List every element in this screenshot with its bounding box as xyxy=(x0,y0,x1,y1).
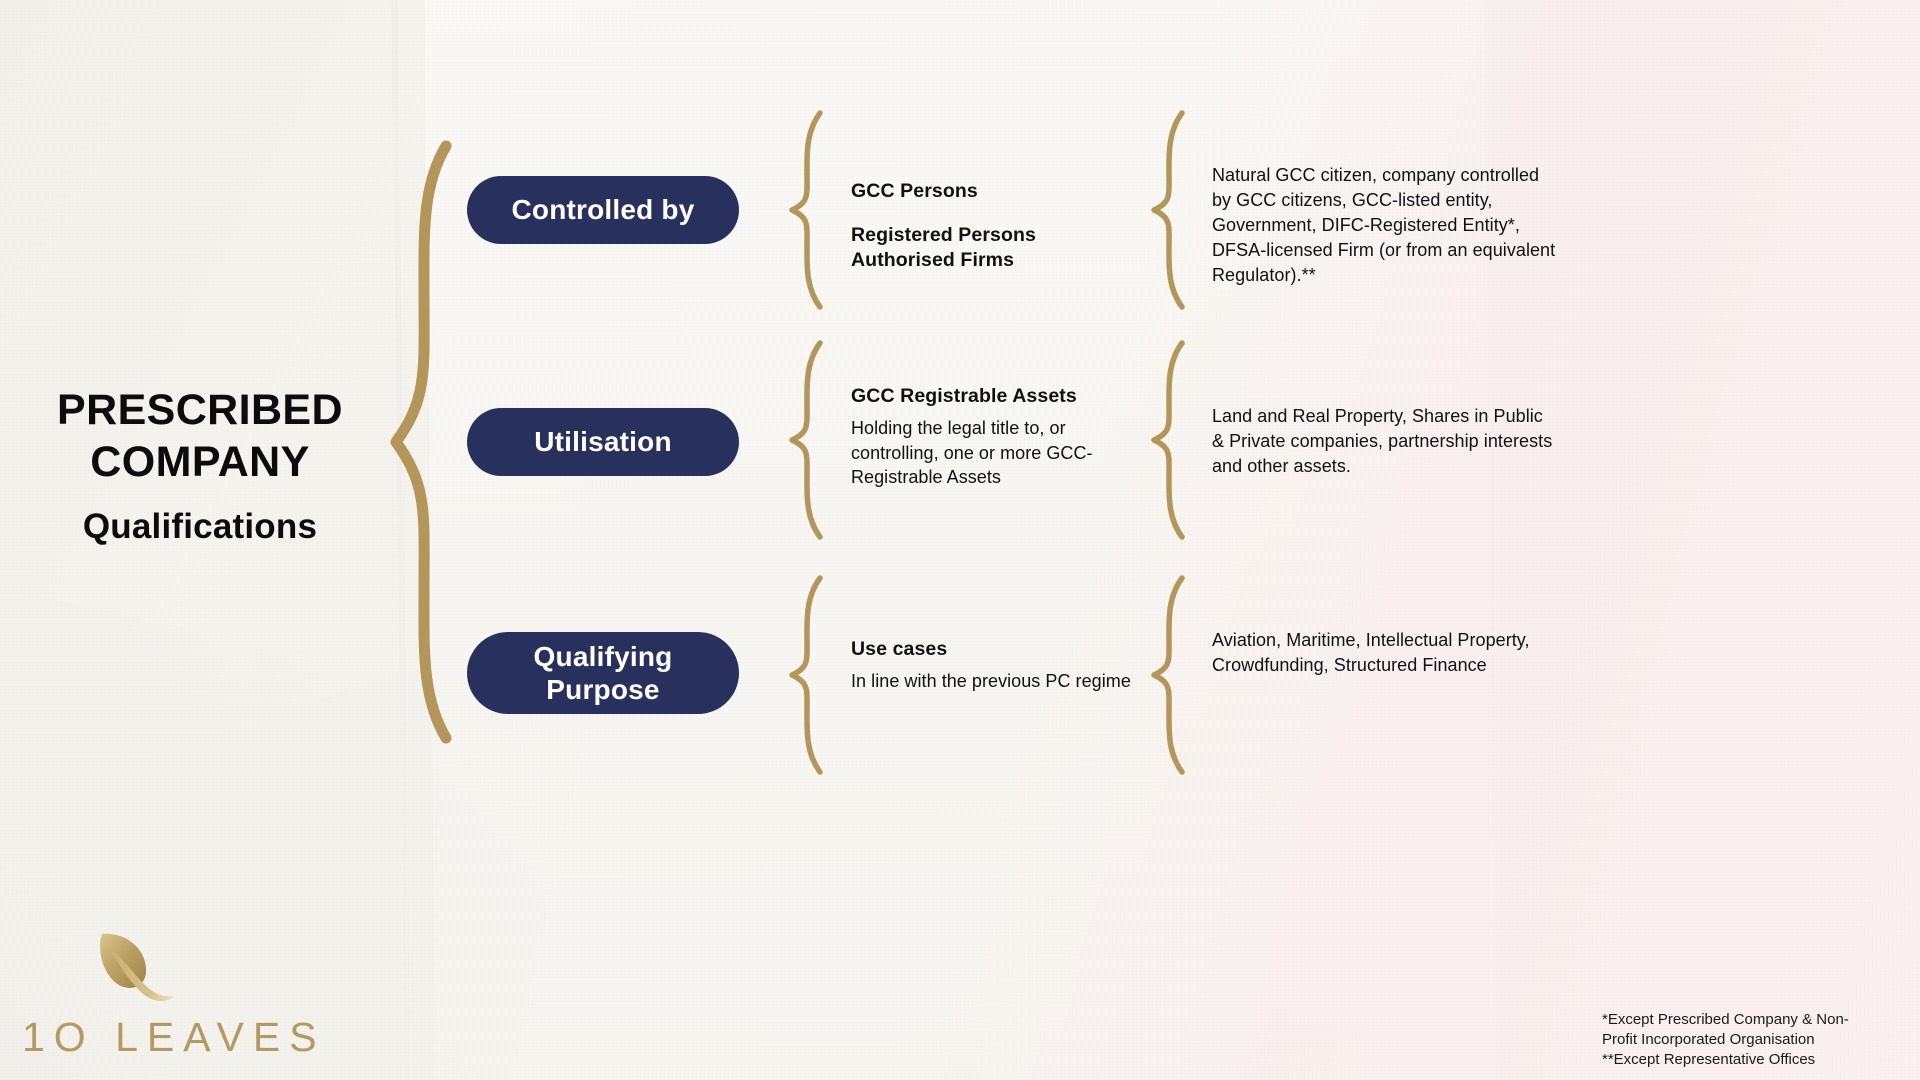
brace-icon-middle-2 xyxy=(786,340,830,540)
middle-heading: GCC Registrable Assets xyxy=(851,384,1151,409)
pill-label: Utilisation xyxy=(534,425,672,458)
right-column-row-2: Land and Real Property, Shares in Public… xyxy=(1212,404,1557,479)
middle-heading: GCC Persons xyxy=(851,179,1151,204)
right-column-row-1: Natural GCC citizen, company controlled … xyxy=(1212,163,1557,288)
footnote-line-2: Profit Incorporated Organisation xyxy=(1602,1030,1902,1050)
brace-icon-middle-1 xyxy=(786,110,830,310)
middle-heading: Use cases xyxy=(851,637,1151,662)
brand-logo: 1O LEAVES xyxy=(14,940,314,1070)
middle-heading-line-3: Authorised Firms xyxy=(851,248,1151,273)
footnote-line-1: *Except Prescribed Company & Non- xyxy=(1602,1010,1902,1030)
brace-icon-right-1 xyxy=(1148,110,1192,310)
middle-heading-line-2: Registered Persons xyxy=(851,223,1151,248)
infographic-slide: PRESCRIBED COMPANY Qualifications xyxy=(0,0,1920,1080)
page-title: PRESCRIBED COMPANY Qualifications xyxy=(40,384,360,547)
right-column-row-3: Aviation, Maritime, Intellectual Propert… xyxy=(1212,628,1557,678)
brace-icon-right-3 xyxy=(1148,575,1192,775)
middle-column-row-2: GCC Registrable Assets Holding the legal… xyxy=(851,384,1151,490)
main-brace-icon xyxy=(388,142,460,742)
footnotes: *Except Prescribed Company & Non- Profit… xyxy=(1602,1010,1902,1070)
title-line-2: COMPANY xyxy=(40,436,360,488)
title-subtitle: Qualifications xyxy=(40,507,360,547)
middle-column-row-1: GCC Persons Registered Persons Authorise… xyxy=(851,179,1151,273)
middle-body: Holding the legal title to, or controlli… xyxy=(851,416,1151,490)
category-pill-utilisation[interactable]: Utilisation xyxy=(467,408,739,476)
spacer xyxy=(851,204,1151,223)
category-pill-controlled-by[interactable]: Controlled by xyxy=(467,176,739,244)
pill-label: Controlled by xyxy=(511,193,694,226)
middle-body: In line with the previous PC regime xyxy=(851,669,1151,694)
pill-label: Qualifying Purpose xyxy=(483,640,723,706)
middle-column-row-3: Use cases In line with the previous PC r… xyxy=(851,637,1151,694)
leaf-icon xyxy=(88,932,178,1012)
background-paper-sheet xyxy=(424,0,1496,1080)
brace-icon-middle-3 xyxy=(786,575,830,775)
category-pill-qualifying-purpose[interactable]: Qualifying Purpose xyxy=(467,632,739,714)
footnote-line-3: **Except Representative Offices xyxy=(1602,1050,1902,1070)
brace-icon-right-2 xyxy=(1148,340,1192,540)
logo-wordmark: 1O LEAVES xyxy=(22,1014,326,1061)
title-line-1: PRESCRIBED xyxy=(40,384,360,436)
